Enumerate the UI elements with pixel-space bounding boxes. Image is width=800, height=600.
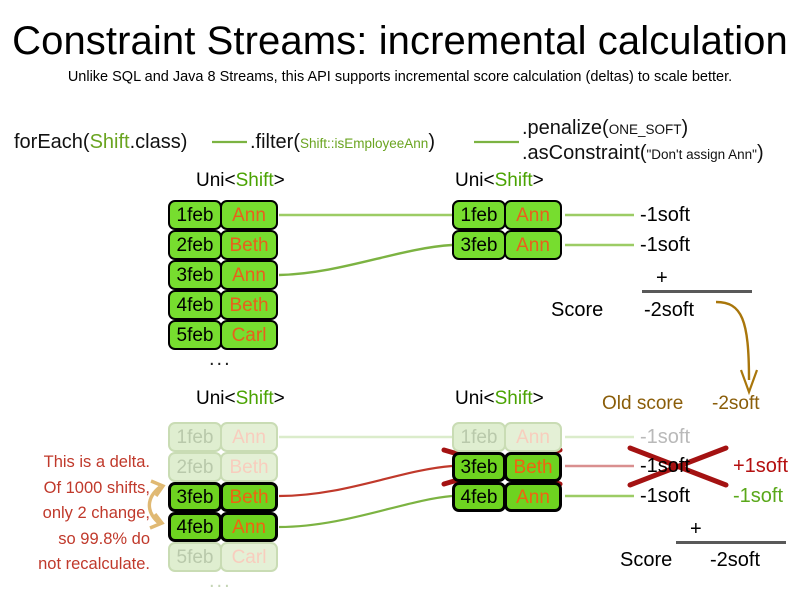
shift-card-date: 1feb	[168, 200, 222, 230]
code-foreach-prefix: forEach(	[14, 131, 90, 153]
shift-card-date: 5feb	[168, 542, 222, 572]
sum-rule-bottom	[676, 541, 786, 544]
shift-card-employee: Beth	[220, 290, 278, 320]
type-prefix: Uni<	[455, 388, 495, 409]
delta-note-line: so 99.8% do	[0, 527, 150, 553]
shift-card-date: 4feb	[168, 290, 222, 320]
delta-note: This is a delta.Of 1000 shifts,only 2 ch…	[0, 450, 150, 578]
type-suffix: >	[274, 170, 285, 191]
page-title: Constraint Streams: incremental calculat…	[0, 18, 800, 64]
swap-arrow-icon	[149, 481, 163, 528]
delta-note-line: This is a delta.	[0, 450, 150, 476]
code-foreach: forEach(Shift.class)	[14, 130, 187, 154]
score-total-bottom: -2soft	[710, 549, 760, 571]
delta-note-line: only 2 change,	[0, 501, 150, 527]
type-suffix: >	[533, 388, 544, 409]
code-penalize-prefix: .penalize(	[522, 117, 609, 139]
shift-card: 5febCarl	[168, 320, 278, 350]
shift-card: 4febAnn	[168, 512, 278, 542]
code-filter: .filter(Shift::isEmployeeAnn)	[250, 130, 435, 156]
ellipsis-top-source: ...	[209, 348, 232, 371]
code-filter-suffix: )	[428, 131, 435, 153]
penalty-bottom-1: -1soft	[640, 426, 690, 448]
shift-card-employee: Beth	[220, 230, 278, 260]
type-name: Shift	[236, 170, 274, 191]
shift-card-employee: Ann	[220, 512, 278, 542]
delta-note-line: not recalculate.	[0, 552, 150, 578]
type-prefix: Uni<	[455, 170, 495, 191]
code-foreach-type: Shift	[90, 131, 130, 153]
shift-card: 2febBeth	[168, 230, 278, 260]
shift-stack-bottom-source: 1febAnn2febBeth3febBeth4febAnn5febCarl	[168, 422, 278, 572]
shift-card: 3febBeth	[168, 482, 278, 512]
bottom-link-3feb	[279, 466, 452, 496]
code-foreach-suffix: .class)	[130, 131, 188, 153]
shift-card: 4febAnn	[452, 482, 562, 512]
code-penalize-suffix: )	[681, 117, 688, 139]
shift-card-date: 3feb	[452, 452, 506, 482]
shift-card: 1febAnn	[452, 422, 562, 452]
code-asconstraint-arg: "Don't assign Ann"	[647, 147, 757, 162]
score-label-bottom: Score	[620, 549, 672, 571]
score-label-top: Score	[551, 299, 603, 321]
shift-card-date: 1feb	[168, 422, 222, 452]
page-subtitle: Unlike SQL and Java 8 Streams, this API …	[0, 68, 800, 86]
shift-card: 3febAnn	[168, 260, 278, 290]
type-label-top-filtered: Uni<Shift>	[455, 170, 544, 192]
shift-stack-top-source: 1febAnn2febBeth3febAnn4febBeth5febCarl	[168, 200, 278, 350]
shift-card-date: 1feb	[452, 422, 506, 452]
code-filter-prefix: .filter(	[250, 131, 300, 153]
shift-card-date: 4feb	[168, 512, 222, 542]
old-score-label: Old score	[602, 393, 683, 415]
shift-card-employee: Ann	[220, 200, 278, 230]
shift-card: 2febBeth	[168, 452, 278, 482]
shift-card-date: 5feb	[168, 320, 222, 350]
type-label-top-source: Uni<Shift>	[196, 170, 285, 192]
type-prefix: Uni<	[196, 170, 236, 191]
score-total-top: -2soft	[644, 299, 694, 321]
shift-card-date: 3feb	[452, 230, 506, 260]
shift-card-date: 3feb	[168, 482, 222, 512]
top-link-3feb	[279, 245, 452, 275]
type-label-bottom-source: Uni<Shift>	[196, 388, 285, 410]
shift-card-employee: Beth	[220, 452, 278, 482]
plus-sign-top: +	[656, 268, 668, 288]
shift-card: 5febCarl	[168, 542, 278, 572]
shift-card: 3febAnn	[452, 230, 562, 260]
penalty-top-1: -1soft	[640, 204, 690, 226]
shift-card-employee: Ann	[504, 482, 562, 512]
delta-bottom-2: -1soft	[733, 485, 783, 507]
old-score-value: -2soft	[712, 393, 760, 415]
shift-stack-top-filtered: 1febAnn3febAnn	[452, 200, 562, 260]
code-penalize: .penalize(ONE_SOFT)	[522, 116, 688, 142]
sum-rule-top	[642, 290, 752, 293]
shift-card: 1febAnn	[452, 200, 562, 230]
penalty-top-2: -1soft	[640, 234, 690, 256]
shift-card-date: 1feb	[452, 200, 506, 230]
old-score-arrowhead	[741, 370, 757, 392]
type-name: Shift	[236, 388, 274, 409]
type-suffix: >	[533, 170, 544, 191]
type-prefix: Uni<	[196, 388, 236, 409]
delta-note-line: Of 1000 shifts,	[0, 476, 150, 502]
shift-card: 1febAnn	[168, 422, 278, 452]
shift-card: 1febAnn	[168, 200, 278, 230]
shift-card-date: 3feb	[168, 260, 222, 290]
penalty-bottom-2: -1soft	[640, 455, 690, 477]
code-penalize-arg: ONE_SOFT	[609, 122, 682, 137]
shift-card-employee: Ann	[504, 230, 562, 260]
shift-card-employee: Beth	[504, 452, 562, 482]
shift-card-date: 2feb	[168, 452, 222, 482]
code-asconstraint-suffix: )	[757, 142, 764, 164]
code-asconstraint-prefix: .asConstraint(	[522, 142, 647, 164]
shift-card-date: 2feb	[168, 230, 222, 260]
shift-stack-bottom-filtered: 1febAnn3febBeth4febAnn	[452, 422, 562, 512]
shift-card: 4febBeth	[168, 290, 278, 320]
shift-card-date: 4feb	[452, 482, 506, 512]
ellipsis-bottom-source: ...	[209, 570, 232, 593]
code-filter-arg: Shift::isEmployeeAnn	[300, 136, 428, 151]
type-suffix: >	[274, 388, 285, 409]
old-score-arrow	[716, 302, 749, 380]
shift-card-employee: Ann	[504, 422, 562, 452]
shift-card-employee: Carl	[220, 542, 278, 572]
shift-card-employee: Beth	[220, 482, 278, 512]
shift-card: 3febBeth	[452, 452, 562, 482]
shift-card-employee: Ann	[220, 422, 278, 452]
delta-bottom-1: +1soft	[733, 455, 788, 477]
penalty-bottom-3: -1soft	[640, 485, 690, 507]
code-asconstraint: .asConstraint("Don't assign Ann")	[522, 141, 764, 167]
plus-sign-bottom: +	[690, 519, 702, 539]
diagram-canvas: Constraint Streams: incremental calculat…	[0, 0, 800, 600]
shift-card-employee: Carl	[220, 320, 278, 350]
type-label-bottom-filtered: Uni<Shift>	[455, 388, 544, 410]
bottom-link-4feb	[279, 496, 452, 527]
shift-card-employee: Ann	[220, 260, 278, 290]
shift-card-employee: Ann	[504, 200, 562, 230]
type-name: Shift	[495, 388, 533, 409]
type-name: Shift	[495, 170, 533, 191]
